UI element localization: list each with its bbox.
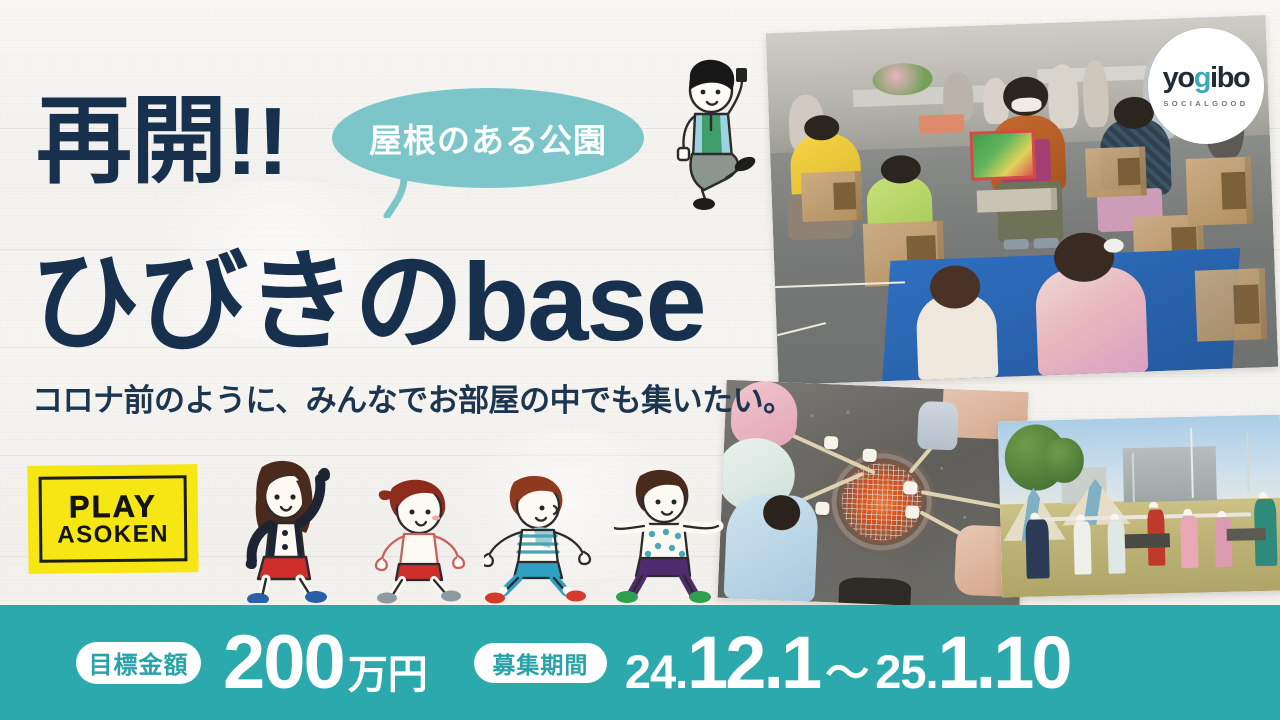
yogibo-socialgood-logo: yogibo SOCIALGOOD: [1148, 28, 1264, 144]
goal-amount-value: 200 万円: [223, 625, 428, 701]
kid-striped-shirt-blue-pants-illustration: [484, 472, 600, 604]
period-value: 24. 12.1 ～ 25. 1.10: [625, 626, 1070, 700]
play-asoken-line2: ASOKEN: [57, 522, 169, 547]
subtitle-copy: コロナ前のように、みんなでお部屋の中でも集いたい。: [32, 382, 794, 419]
campaign-poster: yogibo SOCIALGOOD 再開!! 屋根のある公園 ひびきのbase …: [0, 0, 1280, 720]
period-end-date: 1.10: [938, 626, 1070, 700]
play-asoken-logo: PLAY ASOKEN: [27, 464, 198, 574]
speech-bubble-label: 屋根のある公園: [369, 114, 607, 162]
period-start-year: 24.: [625, 648, 687, 695]
campaign-summary-banner: 目標金額 200 万円 募集期間 24. 12.1 ～ 25. 1.10: [0, 605, 1280, 720]
goal-number: 200: [223, 625, 344, 701]
kid-jumping-green-vest-illustration: [662, 50, 774, 210]
period-start-date: 12.1: [687, 626, 819, 700]
kid-ponytail-red-shorts-illustration: [372, 474, 472, 604]
page-title-base: ひびきのbase: [30, 248, 705, 358]
goal-amount-pill-label: 目標金額: [76, 642, 201, 684]
goal-unit: 万円: [348, 655, 428, 695]
speech-bubble: 屋根のある公園: [332, 88, 644, 188]
photo-park-tents: [998, 415, 1280, 598]
yogibo-wordmark-part2: ibo: [1210, 62, 1249, 94]
period-end-year: 25.: [875, 648, 937, 695]
kid-dotted-shirt-purple-pants-illustration: [614, 466, 724, 606]
page-title-reopen: 再開!!: [36, 94, 288, 190]
yogibo-wordmark-g: g: [1194, 62, 1210, 94]
kid-girl-red-skirt-illustration: [236, 455, 356, 603]
speech-bubble-tail-icon: [382, 178, 408, 218]
yogibo-tagline: SOCIALGOOD: [1163, 100, 1248, 108]
play-asoken-line1: PLAY: [69, 491, 157, 523]
period-separator: ～: [825, 652, 869, 696]
period-pill-label: 募集期間: [474, 643, 607, 683]
yogibo-wordmark: yogibo: [1163, 64, 1250, 93]
yogibo-wordmark-part1: yo: [1163, 62, 1194, 94]
